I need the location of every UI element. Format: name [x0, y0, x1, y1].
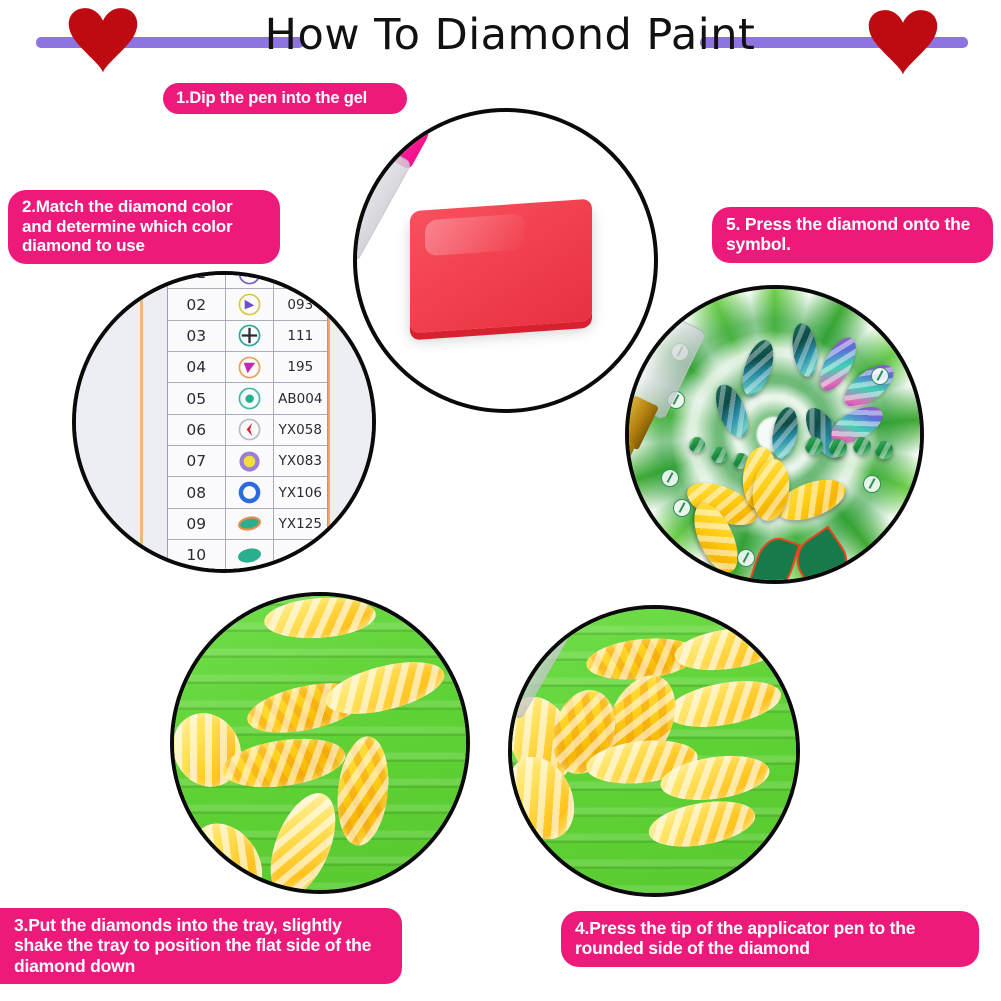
- chart-cell-number: 05: [168, 383, 226, 413]
- symbol-chart-row: 01026: [168, 271, 327, 289]
- chart-cell-number: 10: [168, 540, 226, 570]
- heart-icon: [866, 8, 940, 76]
- canvas-gem: [875, 441, 893, 459]
- canvas-symbol-cell: [863, 475, 881, 493]
- plus-icon: [226, 321, 274, 351]
- paper-edge-left: [140, 273, 143, 571]
- chart-cell-code: YX083: [274, 453, 327, 469]
- step-4-photo: [508, 605, 800, 897]
- triangle-down-icon: [226, 352, 274, 382]
- canvas-symbol-cell: [673, 499, 691, 517]
- symbol-chart-row: 09YX125: [168, 509, 327, 540]
- leaf-icon: [226, 509, 274, 539]
- chart-cell-code: YX125: [274, 516, 327, 532]
- symbol-chart-row: 08YX106: [168, 477, 327, 508]
- canvas-symbol-cell: [871, 367, 889, 385]
- gel-pad-scene: [355, 110, 656, 411]
- step-1-label: 1.Dip the pen into the gel: [163, 83, 407, 114]
- gel-pad: [410, 199, 592, 334]
- infographic-canvas: How To Diamond Paint 0102602093031110419…: [0, 0, 1001, 1001]
- step-2-label: 2.Match the diamond color and determine …: [8, 190, 280, 264]
- chart-cell-number: 02: [168, 289, 226, 319]
- canvas-symbol-cell: [661, 469, 679, 487]
- canvas-gem: [689, 437, 705, 453]
- step-3-label: 3.Put the diamonds into the tray, slight…: [0, 908, 402, 984]
- chart-cell-code: AB004: [274, 391, 327, 407]
- symbol-chart-row: 03111: [168, 321, 327, 352]
- heart-icon: [66, 6, 140, 74]
- canvas-gem: [805, 437, 823, 455]
- canvas-gem: [711, 447, 727, 463]
- chart-cell-code: 026: [274, 271, 327, 281]
- symbol-chart-row: 06YX058: [168, 415, 327, 446]
- symbol-chart-row: 02093: [168, 289, 327, 320]
- header: How To Diamond Paint: [0, 0, 1001, 78]
- chart-cell-code: 111: [274, 328, 327, 344]
- step-5-photo: [625, 285, 924, 584]
- leaf-icon: [226, 540, 274, 570]
- symbol-chart-row: 10: [168, 540, 327, 571]
- canvas-gem: [853, 437, 871, 455]
- step-5-label: 5. Press the diamond onto the symbol.: [712, 207, 993, 263]
- symbol-chart-row: 04195: [168, 352, 327, 383]
- capsule-icon: [226, 383, 274, 413]
- chart-cell-code: 195: [274, 359, 327, 375]
- symbol-chart-row: 07YX083: [168, 446, 327, 477]
- symbol-chart-scene: 0102602093031110419505AB00406YX05807YX08…: [74, 273, 374, 571]
- step-3-photo: [170, 592, 470, 894]
- chart-cell-number: 06: [168, 415, 226, 445]
- page-title: How To Diamond Paint: [250, 10, 770, 60]
- step-4-label: 4.Press the tip of the applicator pen to…: [561, 911, 979, 967]
- step-2-photo: 0102602093031110419505AB00406YX05807YX08…: [72, 271, 376, 573]
- left-arrow-icon: [226, 415, 274, 445]
- double-dot-icon: [226, 271, 274, 288]
- canvas-symbol-cell: [737, 549, 755, 567]
- chart-cell-code: 093: [274, 297, 327, 313]
- chart-cell-code: YX106: [274, 485, 327, 501]
- symbol-chart-table: 0102602093031110419505AB00406YX05807YX08…: [167, 271, 328, 573]
- chart-cell-number: 07: [168, 446, 226, 476]
- chart-cell-code: YX058: [274, 422, 327, 438]
- chart-cell-number: 04: [168, 352, 226, 382]
- chart-cell-number: 09: [168, 509, 226, 539]
- step-1-photo: [353, 108, 658, 413]
- chart-paper: 0102602093031110419505AB00406YX05807YX08…: [74, 273, 374, 571]
- mandala-canvas-scene: [627, 287, 922, 582]
- chart-cell-number: 03: [168, 321, 226, 351]
- filled-circle-icon: [226, 446, 274, 476]
- ring-icon: [226, 477, 274, 507]
- symbol-chart-row: 05AB004: [168, 383, 327, 414]
- canvas-gem: [829, 439, 847, 457]
- chart-cell-number: 01: [168, 271, 226, 288]
- pickup-scene: [510, 607, 798, 895]
- triangle-icon: [226, 289, 274, 319]
- chart-cell-number: 08: [168, 477, 226, 507]
- diamond-tray-scene: [172, 594, 468, 892]
- pen-body: [353, 138, 412, 262]
